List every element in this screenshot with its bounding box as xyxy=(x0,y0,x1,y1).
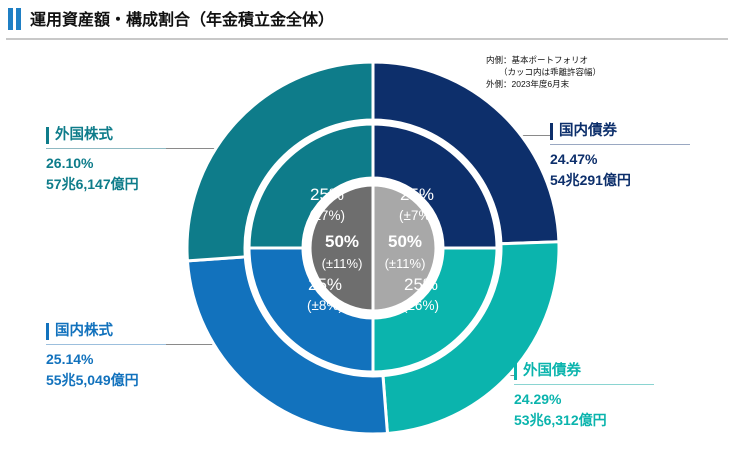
callout-tick xyxy=(46,323,49,340)
callout-domestic-equities: 国内株式 25.14% 55兆5,049億円 xyxy=(46,322,166,391)
callout-amount: 54兆291億円 xyxy=(550,170,690,191)
callout-rule xyxy=(550,144,690,145)
callout-title: 外国債券 xyxy=(523,363,581,379)
callout-amount: 57兆6,147億円 xyxy=(46,174,166,195)
callout-rule xyxy=(514,384,654,385)
inner-label-domestic-equities: 25% xyxy=(308,275,342,294)
header-accent-icon xyxy=(8,8,22,30)
callout-foreign-equities: 外国株式 26.10% 57兆6,147億円 xyxy=(46,126,166,195)
inner-label-domestic-bonds: 25% xyxy=(400,185,434,204)
callout-amount: 55兆5,049億円 xyxy=(46,370,166,391)
callout-percent: 25.14% xyxy=(46,349,166,370)
inner-label-foreign-bonds: 25% xyxy=(404,275,438,294)
callout-amount: 53兆6,312億円 xyxy=(514,410,654,431)
callout-tick xyxy=(550,123,553,140)
callout-tick xyxy=(46,127,49,144)
core-label-equities: 50% xyxy=(325,232,359,251)
allocation-donut-chart: 25%(±7%)25%(±6%)25%(±8%)25%(±7%)50%(±11%… xyxy=(183,58,563,438)
page-title: 運用資産額・構成割合（年金積立金全体） xyxy=(30,6,334,30)
inner-label-foreign-equities: 25% xyxy=(310,185,344,204)
callout-percent: 24.47% xyxy=(550,149,690,170)
core-sublabel-bonds: (±11%) xyxy=(385,256,426,271)
inner-sublabel-foreign-bonds: (±6%) xyxy=(403,298,439,313)
callout-percent: 24.29% xyxy=(514,389,654,410)
callout-title: 国内債券 xyxy=(559,123,617,139)
inner-sublabel-foreign-equities: (±7%) xyxy=(309,208,345,223)
header-divider xyxy=(6,38,728,40)
core-sublabel-equities: (±11%) xyxy=(322,256,363,271)
callout-title: 国内株式 xyxy=(55,323,113,339)
callout-percent: 26.10% xyxy=(46,153,166,174)
callout-rule xyxy=(46,344,166,345)
callout-title: 外国株式 xyxy=(55,127,113,143)
inner-sublabel-domestic-bonds: (±7%) xyxy=(399,208,435,223)
callout-tick xyxy=(514,363,517,380)
core-label-bonds: 50% xyxy=(388,232,422,251)
callout-domestic-bonds: 国内債券 24.47% 54兆291億円 xyxy=(550,122,690,191)
callout-rule xyxy=(46,148,166,149)
donut-svg: 25%(±7%)25%(±6%)25%(±8%)25%(±7%)50%(±11%… xyxy=(183,58,563,438)
inner-sublabel-domestic-equities: (±8%) xyxy=(307,298,343,313)
page-header: 運用資産額・構成割合（年金積立金全体） xyxy=(0,0,734,40)
callout-foreign-bonds: 外国債券 24.29% 53兆6,312億円 xyxy=(514,362,654,431)
